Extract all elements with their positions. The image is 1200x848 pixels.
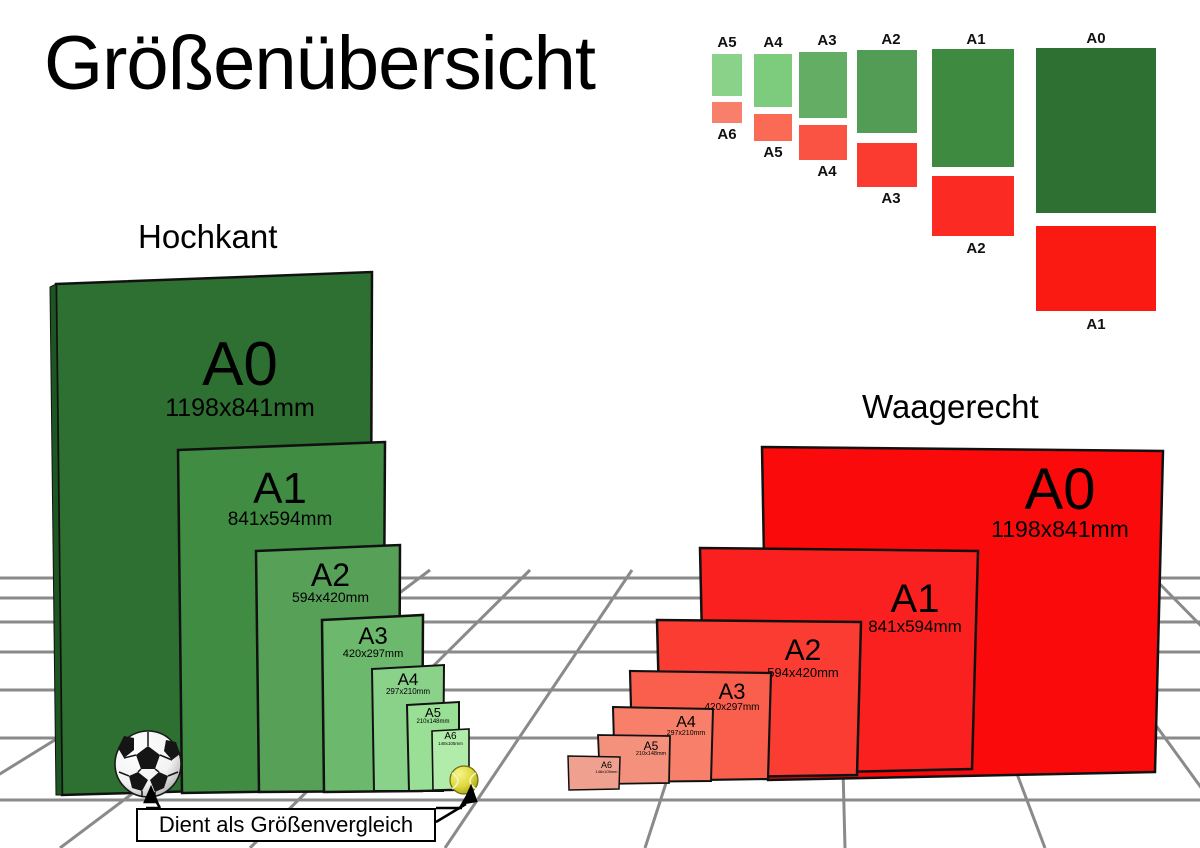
callout-box: Dient als Größenvergleich <box>136 808 436 842</box>
callout-arrows <box>0 0 1200 848</box>
infographic-canvas: Größenübersicht Hochkant Waagerecht A0 1… <box>0 0 1200 848</box>
callout-text: Dient als Größenvergleich <box>159 812 413 838</box>
